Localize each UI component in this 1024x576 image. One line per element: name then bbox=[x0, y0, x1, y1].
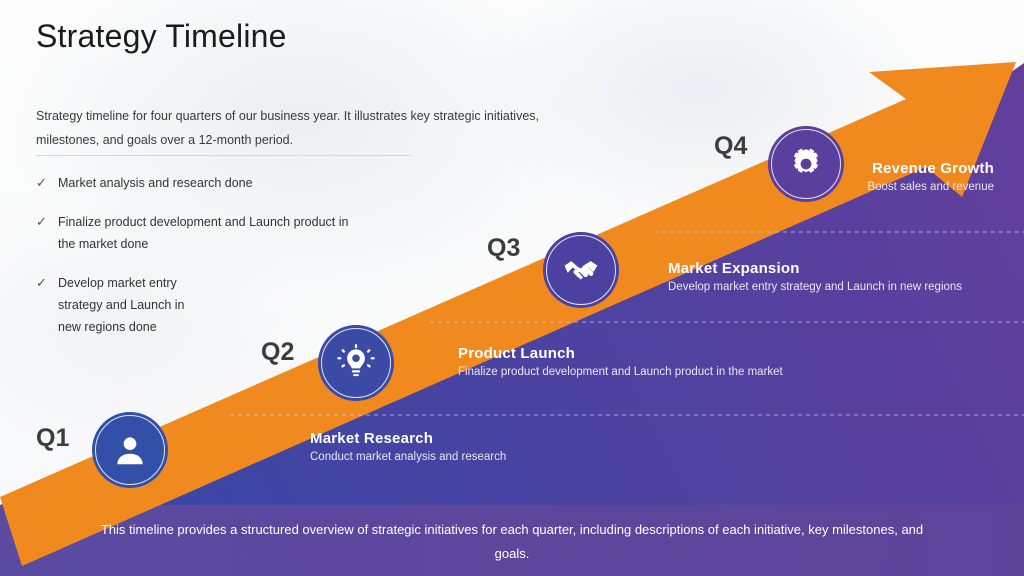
handshake-icon bbox=[562, 251, 600, 289]
check-icon: ✓ bbox=[36, 172, 58, 194]
milestone-desc: Finalize product development and Launch … bbox=[458, 365, 783, 380]
list-item: ✓ Market analysis and research done bbox=[36, 172, 366, 194]
checklist: ✓ Market analysis and research done ✓ Fi… bbox=[36, 172, 366, 355]
milestone-desc: Boost sales and revenue bbox=[600, 180, 994, 195]
milestone-title: Market Research bbox=[310, 430, 506, 447]
slide-canvas: Strategy Timeline Strategy timeline for … bbox=[0, 0, 1024, 576]
milestone-title: Revenue Growth bbox=[600, 160, 994, 177]
list-item: ✓ Finalize product development and Launc… bbox=[36, 211, 366, 255]
milestone-q3: Market Expansion Develop market entry st… bbox=[668, 260, 962, 295]
milestone-q1: Market Research Conduct market analysis … bbox=[310, 430, 506, 465]
quarter-label-q4: Q4 bbox=[714, 132, 747, 161]
quarter-icon-q1[interactable] bbox=[92, 412, 168, 488]
checklist-item-label: Market analysis and research done bbox=[58, 172, 253, 194]
person-icon bbox=[111, 431, 149, 469]
milestone-desc: Develop market entry strategy and Launch… bbox=[668, 280, 962, 295]
lightbulb-icon bbox=[337, 344, 375, 382]
milestone-q2: Product Launch Finalize product developm… bbox=[458, 345, 783, 380]
checklist-item-label: Finalize product development and Launch … bbox=[58, 211, 366, 255]
intro-paragraph: Strategy timeline for four quarters of o… bbox=[36, 104, 561, 152]
quarter-label-q1: Q1 bbox=[36, 424, 69, 453]
check-icon: ✓ bbox=[36, 272, 58, 294]
header-divider bbox=[36, 155, 411, 156]
quarter-label-q2: Q2 bbox=[261, 338, 294, 367]
quarter-icon-q2[interactable] bbox=[318, 325, 394, 401]
milestone-desc: Conduct market analysis and research bbox=[310, 450, 506, 465]
list-item: ✓ Develop market entry strategy and Laun… bbox=[36, 272, 366, 338]
footer-summary: This timeline provides a structured over… bbox=[92, 518, 932, 566]
milestone-title: Product Launch bbox=[458, 345, 783, 362]
milestone-title: Market Expansion bbox=[668, 260, 962, 277]
milestone-q4: Revenue Growth Boost sales and revenue bbox=[600, 160, 994, 195]
quarter-label-q3: Q3 bbox=[487, 234, 520, 263]
checklist-item-label: Develop market entry strategy and Launch… bbox=[58, 272, 188, 338]
check-icon: ✓ bbox=[36, 211, 58, 233]
page-title: Strategy Timeline bbox=[36, 18, 287, 55]
quarter-icon-q3[interactable] bbox=[543, 232, 619, 308]
